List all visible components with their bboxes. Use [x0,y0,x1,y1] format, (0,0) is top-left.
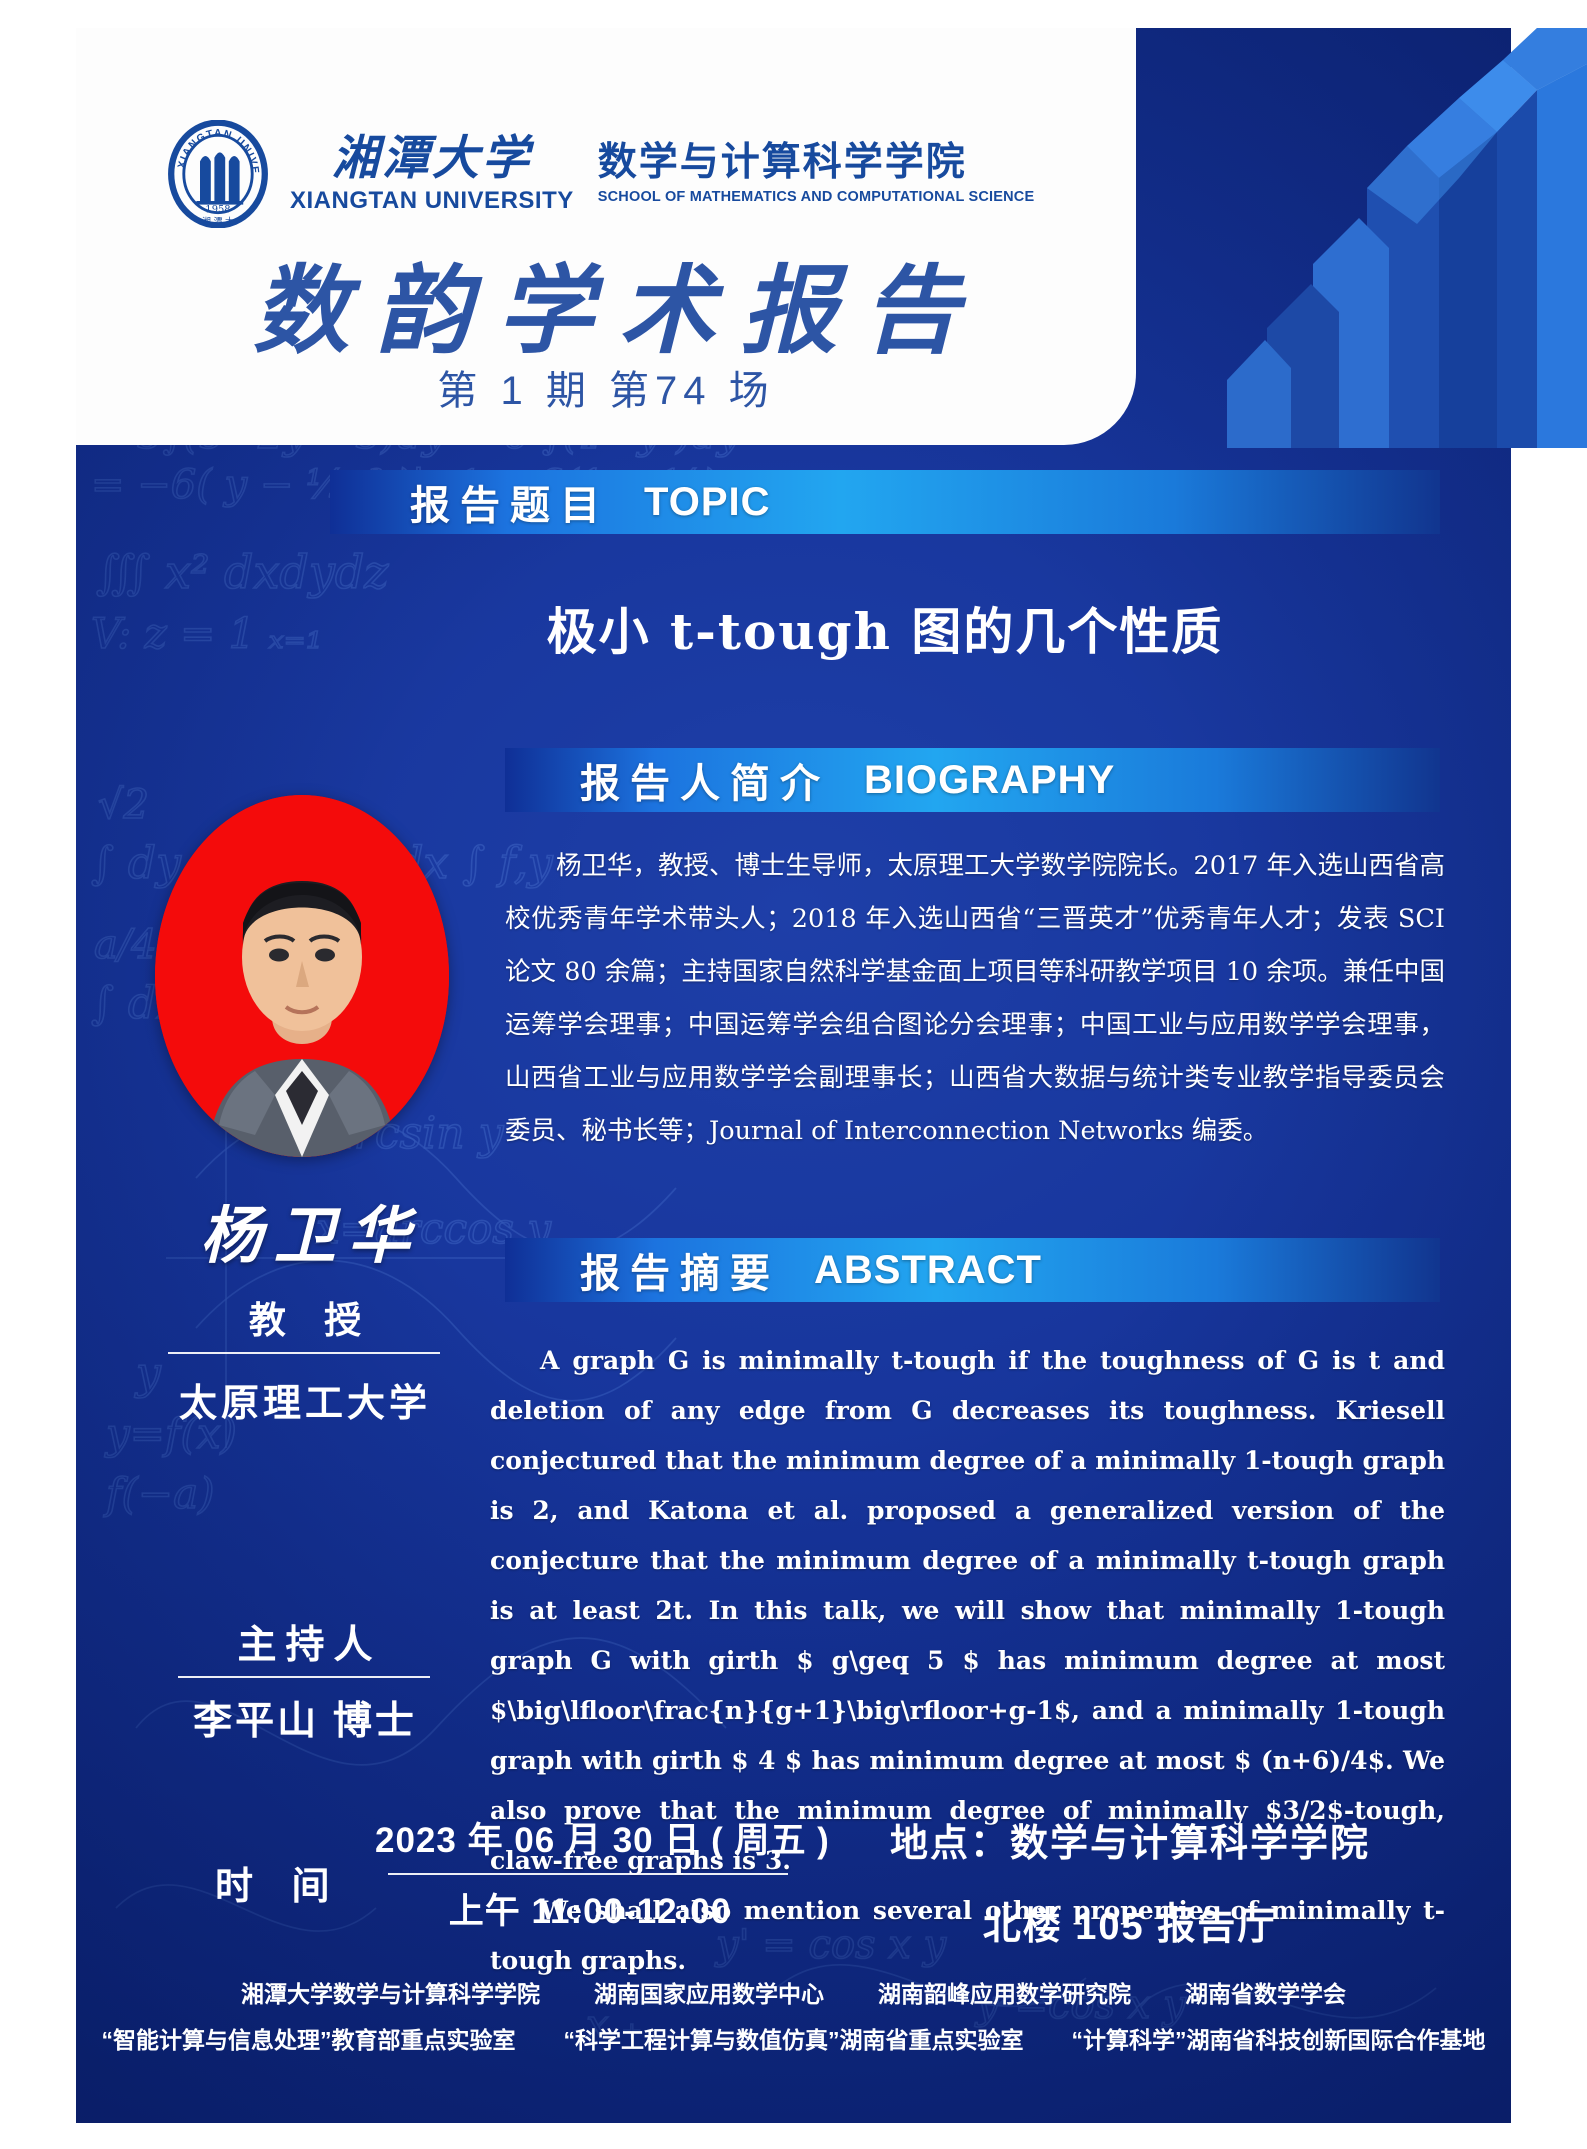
event-place-line-2: 北楼 105 报告厅 [830,1895,1430,1950]
university-crest-icon: XIANGTAN UNIVERSITY 1958 湘 潭 大 [164,120,272,228]
section-header-abstract-cn: 报告摘要 [580,1241,780,1299]
svg-text:1958: 1958 [205,205,230,216]
time-label: 时 间 [215,1855,344,1910]
event-date: 2023 年 06 月 30 日 ( 周五 ) [375,1812,805,1863]
section-header-biography-en: BIOGRAPHY [864,758,1115,803]
organizer-item: 湘潭大学数学与计算科学学院 [241,1975,540,2009]
svg-text:f(−a): f(−a) [103,1469,215,1518]
organizer-item: 湖南省数学学会 [1185,1975,1346,2009]
abstract-paragraph-1: A graph G is minimally t-tough if the to… [490,1336,1445,1886]
speaker-photo [155,795,449,1157]
event-hours: 上午 11:00-12:00 [375,1883,805,1934]
speaker-portrait [155,795,449,1157]
host-divider [178,1676,430,1678]
place-block: 地点：数学与计算科学学院 北楼 105 报告厅 [830,1812,1430,1950]
speaker-organization: 太原理工大学 [135,1372,475,1427]
svg-text:V: z = 1 ₓ₌₁: V: z = 1 ₓ₌₁ [91,609,323,658]
speaker-divider [168,1352,440,1354]
biography-text-block: 杨卫华，教授、博士生导师，太原理工大学数学院院长。2017 年入选山西省高校优秀… [505,840,1445,1158]
organizer-row-primary: 湘潭大学数学与计算科学学院 湖南国家应用数学中心 湖南韶峰应用数学研究院 湖南省… [76,1975,1511,2009]
poster-root: ∫ dy ∫ (4+√9x²+4y² V₁ : ₂ᵧ₊₃ 1+√3x = 3∫(… [0,0,1587,2149]
section-header-abstract-en: ABSTRACT [814,1248,1042,1293]
biography-paragraph: 杨卫华，教授、博士生导师，太原理工大学数学院院长。2017 年入选山西省高校优秀… [505,840,1445,1158]
section-header-topic: 报告题目 TOPIC [330,470,1440,534]
svg-text:∭ x² dxdydz: ∭ x² dxdydz [96,545,389,599]
organizer-item: 湖南韶峰应用数学研究院 [878,1975,1131,2009]
host-name: 李平山 博士 [135,1690,475,1746]
school-name-block: 数学与计算科学学院 SCHOOL OF MATHEMATICS AND COMP… [598,143,1035,205]
university-logo-row: XIANGTAN UNIVERSITY 1958 湘 潭 大 湘潭大学 XIAN… [164,120,1034,228]
speaker-name: 杨卫华 [135,1185,475,1275]
section-header-topic-cn: 报告题目 [410,473,610,531]
section-header-topic-en: TOPIC [644,480,771,525]
section-header-biography: 报告人简介 BIOGRAPHY [505,748,1440,812]
svg-text:√2: √2 [98,782,149,828]
event-place-line-1: 地点：数学与计算科学学院 [830,1812,1430,1867]
topic-title: 极小 t-tough 图的几个性质 [330,592,1440,664]
building-decoration-graphic [1067,28,1587,448]
organizer-item: “智能计算与信息处理”教育部重点实验室 [102,2021,516,2055]
organizer-item: “科学工程计算与数值仿真”湖南省重点实验室 [564,2021,1024,2055]
series-subtitle: 第 1 期 第74 场 [76,358,1136,416]
header-card: XIANGTAN UNIVERSITY 1958 湘 潭 大 湘潭大学 XIAN… [76,28,1136,445]
school-name-cn: 数学与计算科学学院 [598,143,1035,184]
university-name-cn: 湘潭大学 [332,135,532,182]
host-label: 主持人 [135,1614,475,1670]
series-title: 数韵学术报告 [76,233,1136,372]
svg-text:a/4: a/4 [94,922,157,968]
university-name-en: XIANGTAN UNIVERSITY [290,189,574,213]
svg-text:湘 潭 大: 湘 潭 大 [202,215,234,226]
section-header-abstract: 报告摘要 ABSTRACT [505,1238,1440,1302]
organizer-item: 湖南国家应用数学中心 [594,1975,824,2009]
time-divider [388,1873,788,1875]
university-name-block: 湘潭大学 XIANGTAN UNIVERSITY [290,135,574,213]
school-name-en: SCHOOL OF MATHEMATICS AND COMPUTATIONAL … [598,189,1035,205]
organizer-item: “计算科学”湖南省科技创新国际合作基地 [1072,2021,1486,2055]
speaker-role: 教 授 [135,1290,475,1344]
organizer-row-secondary: “智能计算与信息处理”教育部重点实验室 “科学工程计算与数值仿真”湖南省重点实验… [76,2021,1511,2055]
section-header-biography-cn: 报告人简介 [580,751,830,809]
